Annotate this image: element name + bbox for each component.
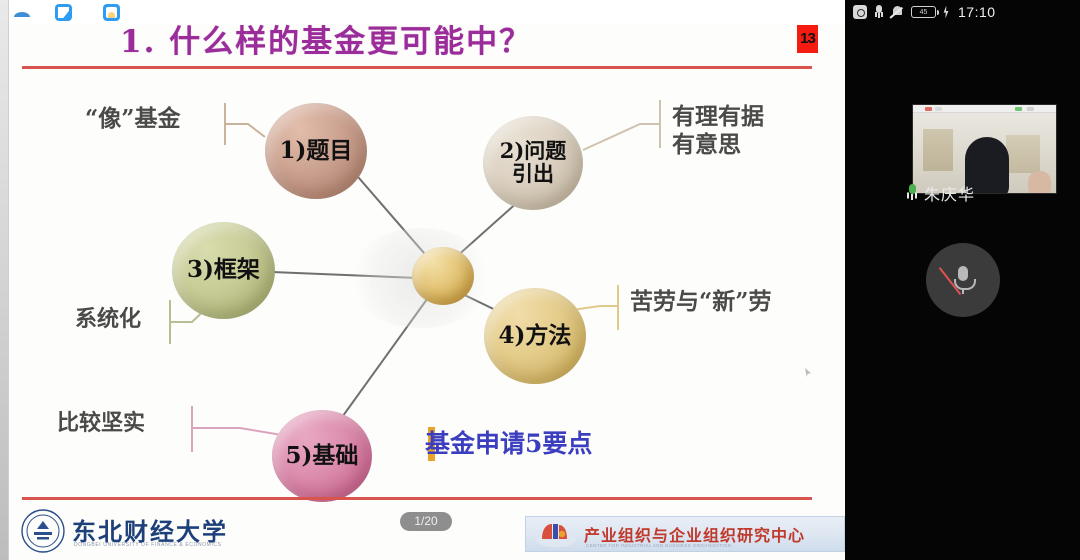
diagram-node-5[interactable]: 5)基础 — [272, 410, 372, 502]
microphone-icon — [905, 184, 919, 202]
microphone-stem — [962, 288, 964, 294]
annotation-reasonable-line2: 有意思 — [672, 131, 764, 159]
footer-divider — [22, 497, 812, 500]
slide-highlight-text: 基金申请5要点 — [425, 424, 592, 460]
annotation-like-fund: “像”基金 — [85, 105, 180, 133]
video-scene-object-right — [1006, 135, 1040, 173]
conference-panel: 45 17:10 朱庆华 — [845, 0, 1080, 560]
titlebar-dot-gray — [935, 107, 942, 111]
research-center-banner: 产业组织与企业组织研究中心 CENTER FOR INDUSTRIAL AND … — [525, 516, 845, 552]
diagram-node-1[interactable]: 1)题目 — [265, 103, 367, 199]
clock-label: 17:10 — [958, 4, 996, 20]
diagram-node-1-label: 1)题目 — [280, 139, 353, 164]
annotation-reasonable: 有理有据 有意思 — [672, 103, 764, 159]
microphone-icon — [874, 5, 884, 19]
research-center-name-english: CENTER FOR INDUSTRIAL AND BUSINESS ORGAN… — [586, 543, 732, 548]
university-name-english: DONGBEI UNIVERSITY OF FINANCE & ECONOMIC… — [74, 542, 222, 548]
titlebar-dot-light — [1027, 107, 1034, 111]
annotation-effort: 苦劳与“新”劳 — [630, 288, 771, 316]
university-seal-icon — [20, 508, 66, 554]
diagram-node-2-label: 2)问题 引出 — [500, 140, 567, 185]
page-indicator: 1/20 — [400, 512, 452, 531]
participant-name: 朱庆华 — [924, 181, 975, 205]
battery-level-label: 45 — [914, 9, 934, 16]
annotation-reasonable-line1: 有理有据 — [672, 103, 764, 131]
participant-name-row: 朱庆华 — [905, 180, 1065, 206]
video-window-titlebar — [913, 105, 1056, 113]
diagram-node-2[interactable]: 2)问题 引出 — [483, 116, 583, 210]
battery-icon: 45 — [911, 6, 936, 18]
mute-toggle-button[interactable] — [926, 243, 1000, 317]
titlebar-dot-green — [1015, 107, 1022, 111]
research-center-logo-icon — [534, 521, 578, 548]
charging-bolt-icon — [943, 6, 949, 19]
video-scene-object-left — [923, 129, 953, 171]
mute-slash — [939, 267, 962, 295]
diagram-node-4[interactable]: 4)方法 — [484, 288, 586, 384]
status-bar: 45 17:10 — [845, 0, 1080, 24]
diagram-node-4-label: 4)方法 — [499, 324, 572, 349]
diagram-node-5-label: 5)基础 — [286, 444, 359, 469]
diagram-node-3[interactable]: 3)框架 — [172, 222, 275, 319]
annotation-systematized: 系统化 — [75, 306, 141, 333]
diagram-center-node — [412, 247, 474, 305]
camera-icon — [853, 5, 867, 19]
titlebar-dot-red — [925, 107, 932, 111]
annotation-fairly-solid: 比较坚实 — [57, 410, 145, 437]
bell-muted-icon — [891, 5, 904, 19]
shared-slide-area[interactable]: 1. 什么样的基金更可能中？ 13 1)题目 2)问题 — [0, 0, 845, 560]
microphone-muted-icon — [952, 265, 974, 295]
diagram-node-3-label: 3)框架 — [187, 258, 260, 283]
